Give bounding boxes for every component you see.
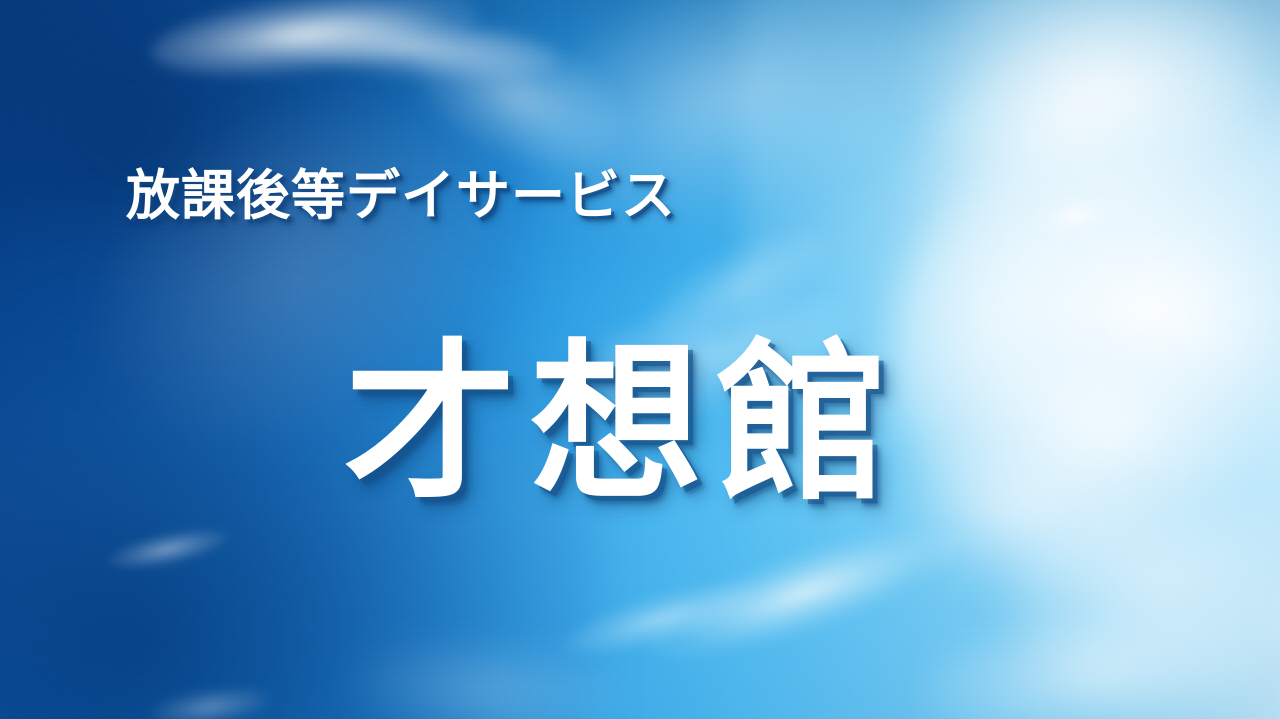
banner-title: 才想館 — [344, 338, 902, 510]
banner-subtitle: 放課後等デイサービス — [126, 168, 676, 225]
text-layer: 放課後等デイサービス 才想館 — [0, 0, 1280, 719]
hero-banner: 放課後等デイサービス 才想館 — [0, 0, 1280, 719]
